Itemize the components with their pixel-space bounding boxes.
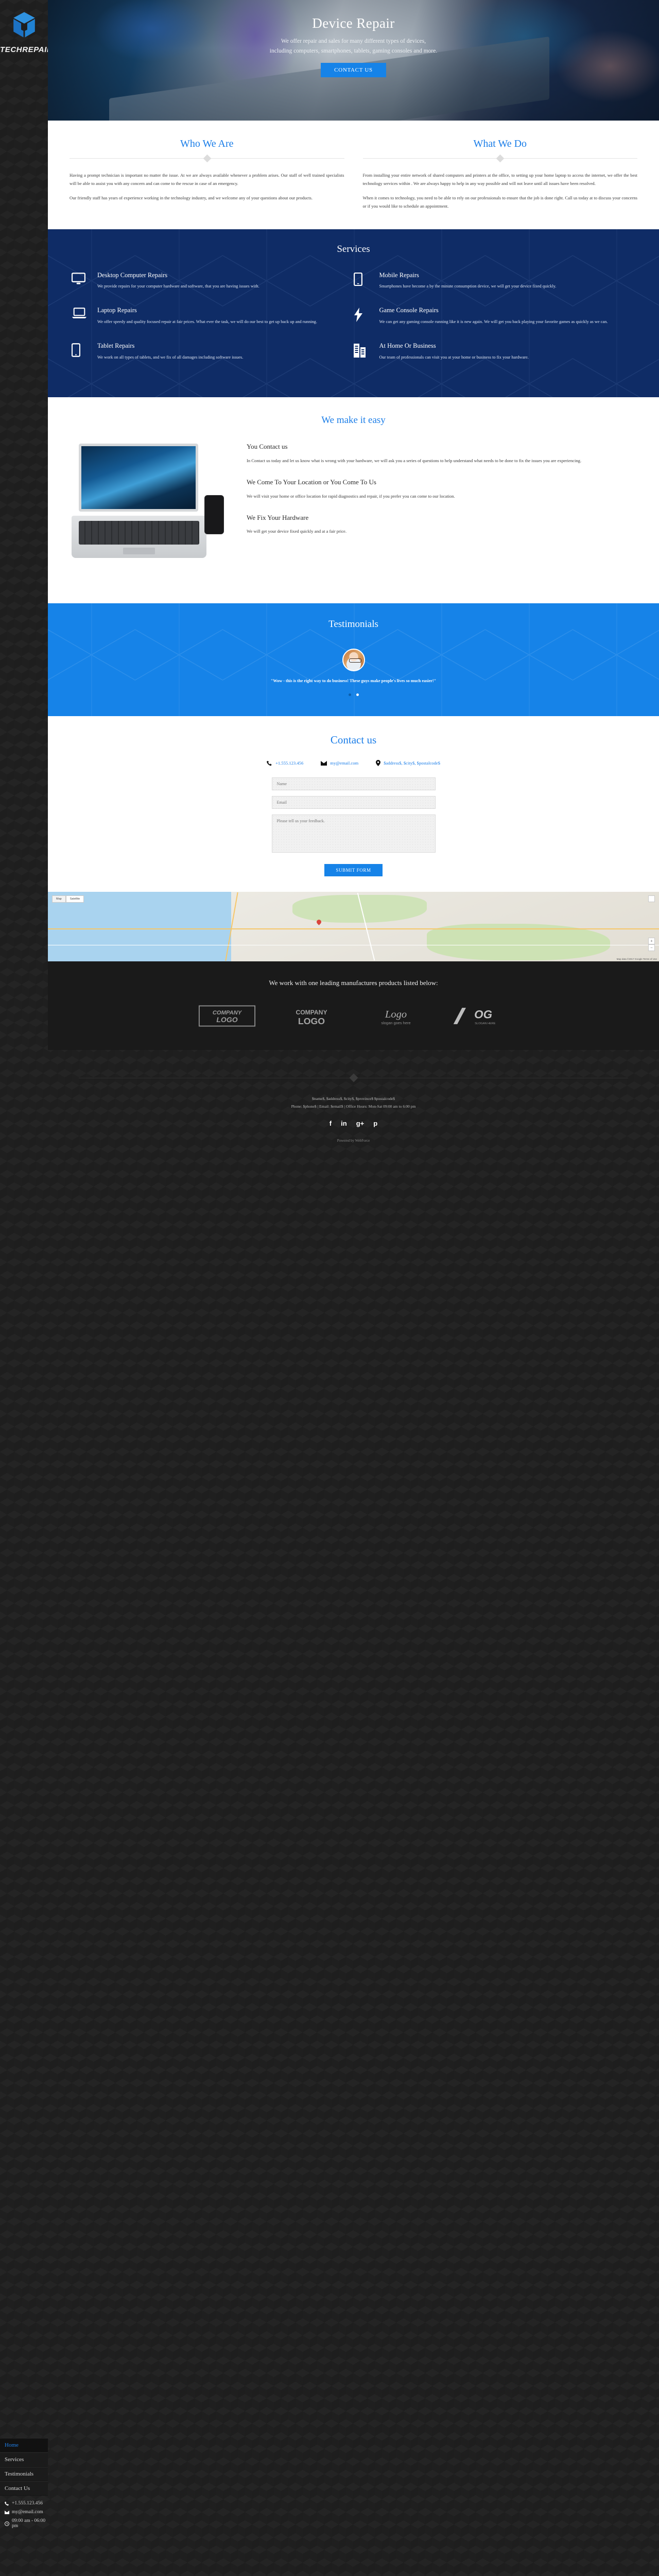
name-input[interactable] xyxy=(272,777,436,790)
service-title: Desktop Computer Repairs xyxy=(97,270,259,280)
service-desc: We work on all types of tablets, and we … xyxy=(97,353,243,362)
location-pin-icon xyxy=(376,760,380,766)
footer: $name$, $address$, $city$, $province$ $p… xyxy=(48,1050,659,1152)
who-we-are-column: Who We Are Having a prompt technician is… xyxy=(70,138,344,211)
service-item-at-home-business: At Home Or Business Our team of professi… xyxy=(354,341,636,361)
testimonial-quote: "Wow - this is the right way to do busin… xyxy=(48,679,659,683)
map-attribution: Map data ©2017 Google Terms of Use xyxy=(617,958,657,960)
who-we-are-title: Who We Are xyxy=(70,138,344,150)
avatar xyxy=(342,649,365,671)
contact-email: my@email.com xyxy=(330,760,358,766)
svg-text:SLOGAN HERE: SLOGAN HERE xyxy=(475,1022,496,1025)
partner-logo: OG SLOGAN HERE xyxy=(452,1005,509,1027)
carousel-dot[interactable] xyxy=(349,693,351,696)
sidebar-phone-row[interactable]: +1.555.123.456 xyxy=(5,2501,48,2506)
what-we-do-column: What We Do From installing your entire n… xyxy=(363,138,638,211)
zoom-in-button[interactable]: + xyxy=(648,938,655,944)
contact-title: Contact us xyxy=(48,734,659,747)
laptop-phone-illustration xyxy=(72,442,226,581)
envelope-icon xyxy=(5,2510,9,2515)
sidebar-item-testimonials[interactable]: Testimonials xyxy=(0,2467,48,2481)
easy-step-heading: We Come To Your Location or You Come To … xyxy=(247,477,635,487)
zoom-out-button[interactable]: − xyxy=(648,944,655,951)
service-item-game-console: Game Console Repairs We can get any gami… xyxy=(354,306,636,326)
map-road xyxy=(48,945,659,945)
laptop-screen-image xyxy=(79,444,198,512)
map-type-satellite[interactable]: Satellite xyxy=(66,895,84,903)
carousel-dot-active[interactable] xyxy=(356,693,359,696)
easy-step-heading: You Contact us xyxy=(247,442,635,452)
svg-text:Logo: Logo xyxy=(384,1009,406,1020)
pinterest-icon[interactable]: p xyxy=(373,1120,377,1127)
diamond-divider-icon xyxy=(70,154,344,162)
sidebar-hours-row: 09:00 am - 06:00 pm xyxy=(5,2518,48,2529)
email-input[interactable] xyxy=(272,796,436,809)
easy-step-text: We will get your device fixed quickly an… xyxy=(247,527,635,535)
svg-text:LOGO: LOGO xyxy=(298,1016,324,1026)
service-desc: We provide repairs for your computer har… xyxy=(97,282,259,291)
map-fullscreen-icon[interactable] xyxy=(648,895,655,902)
services-section: Services Desktop Computer Repairs We pro… xyxy=(48,229,659,398)
facebook-icon[interactable]: f xyxy=(329,1120,332,1127)
services-title: Services xyxy=(48,244,659,255)
service-desc: Smartphones have become a by the minute … xyxy=(379,282,557,291)
company-logo-icon: COMPANY LOGO xyxy=(198,1005,256,1027)
who-we-are-p2: Our friendly staff has years of experien… xyxy=(70,194,344,202)
map-zoom-control[interactable]: + − xyxy=(648,938,655,951)
hero-subtitle-line2: including computers, smartphones, tablet… xyxy=(48,46,659,56)
about-section: Who We Are Having a prompt technician is… xyxy=(48,121,659,229)
sidebar-item-home[interactable]: Home xyxy=(0,2438,48,2452)
company-logo-icon: COMPANY LOGO xyxy=(283,1005,340,1027)
laptop-keyboard xyxy=(79,521,199,545)
company-logo-icon: Logo slogan goes here xyxy=(367,1005,425,1027)
partner-logo: COMPANY LOGO xyxy=(198,1005,256,1027)
sidebar-item-contact-us[interactable]: Contact Us xyxy=(0,2481,48,2496)
we-make-it-easy-section: We make it easy You Contact us In Contac… xyxy=(48,397,659,603)
svg-text:OG: OG xyxy=(474,1008,492,1021)
contact-email-item[interactable]: my@email.com xyxy=(321,760,358,766)
hero-section: Device Repair We offer repair and sales … xyxy=(48,0,659,121)
laptop-trackpad xyxy=(123,548,155,554)
easy-title: We make it easy xyxy=(48,415,659,426)
service-title: Game Console Repairs xyxy=(379,306,608,315)
carousel-dots[interactable] xyxy=(48,689,659,699)
hero-contact-us-button[interactable]: CONTACT US xyxy=(321,63,386,77)
svg-text:COMPANY: COMPANY xyxy=(296,1009,327,1016)
message-textarea[interactable] xyxy=(272,815,436,853)
phone-icon xyxy=(5,2501,9,2506)
service-desc: Our team of professionals can visit you … xyxy=(379,353,529,362)
phone-icon xyxy=(267,760,272,766)
submit-form-button[interactable]: SUBMIT FORM xyxy=(324,864,382,876)
page-root: TECHREPAIR Home Services Testimonials Co… xyxy=(0,0,659,2576)
linkedin-icon[interactable]: in xyxy=(341,1120,347,1127)
sidebar-phone: +1.555.123.456 xyxy=(12,2501,43,2506)
what-we-do-p2: When it comes to technology, you need to… xyxy=(363,194,638,211)
lightning-bolt-icon xyxy=(354,306,371,326)
easy-step-heading: We Fix Your Hardware xyxy=(247,513,635,523)
social-links: f in g+ p xyxy=(48,1120,659,1127)
service-item-tablet: Tablet Repairs We work on all types of t… xyxy=(72,341,354,361)
service-title: Laptop Repairs xyxy=(97,306,317,315)
hero-title: Device Repair xyxy=(48,15,659,31)
contact-phone-item[interactable]: +1.555.123.456 xyxy=(267,760,303,766)
tablet-icon xyxy=(72,341,89,361)
sidebar-item-services[interactable]: Services xyxy=(0,2452,48,2467)
diamond-divider-icon xyxy=(79,1073,628,1083)
partner-logo: Logo slogan goes here xyxy=(367,1005,425,1027)
map-highway xyxy=(48,928,659,929)
smartphone-image xyxy=(204,495,224,534)
map-type-map[interactable]: Map xyxy=(52,895,66,903)
service-item-desktop: Desktop Computer Repairs We provide repa… xyxy=(72,270,354,291)
brand-logo[interactable]: TECHREPAIR xyxy=(0,0,48,54)
diamond-divider-icon xyxy=(363,154,638,162)
what-we-do-p1: From installing your entire network of s… xyxy=(363,172,638,188)
svg-text:LOGO: LOGO xyxy=(216,1015,237,1024)
building-icon xyxy=(354,341,371,361)
service-title: Tablet Repairs xyxy=(97,341,243,351)
contact-phone: +1.555.123.456 xyxy=(275,760,303,766)
contact-address-item: $address$, $city$, $postalcode$ xyxy=(376,760,440,766)
company-logo-icon: OG SLOGAN HERE xyxy=(452,1005,509,1027)
sidebar: TECHREPAIR Home Services Testimonials Co… xyxy=(0,0,48,2576)
footer-contact-line: Phone: $phone$ | Email: $email$ | Office… xyxy=(48,1103,659,1110)
contact-form: SUBMIT FORM xyxy=(272,777,436,876)
sidebar-email-row[interactable]: my@email.com xyxy=(5,2510,48,2515)
service-desc: We can get any gaming console running li… xyxy=(379,318,608,326)
service-item-laptop: Laptop Repairs We offer speedy and quali… xyxy=(72,306,354,326)
laptop-icon xyxy=(72,306,89,326)
testimonials-title: Testimonials xyxy=(48,619,659,630)
service-item-mobile: Mobile Repairs Smartphones have become a… xyxy=(354,270,636,291)
svg-text:slogan goes here: slogan goes here xyxy=(381,1021,410,1025)
footer-address-line: $name$, $address$, $city$, $province$ $p… xyxy=(48,1095,659,1103)
mobile-phone-icon xyxy=(354,270,371,291)
easy-step-text: In Contact us today and let us know what… xyxy=(247,456,635,465)
map-park-area xyxy=(427,924,610,960)
contact-address: $address$, $city$, $postalcode$ xyxy=(384,760,440,766)
service-title: Mobile Repairs xyxy=(379,270,557,280)
main-content: Device Repair We offer repair and sales … xyxy=(48,0,659,1152)
what-we-do-title: What We Do xyxy=(363,138,638,150)
easy-steps: You Contact us In Contact us today and l… xyxy=(247,442,635,548)
sidebar-email: my@email.com xyxy=(12,2510,43,2515)
contact-section: Contact us +1.555.123.456 my@email.com xyxy=(48,716,659,892)
sidebar-nav: Home Services Testimonials Contact Us +1… xyxy=(0,2438,48,2532)
sidebar-hours: 09:00 am - 06:00 pm xyxy=(12,2518,48,2529)
powered-by-text: Powered by WebForce xyxy=(48,1139,659,1143)
envelope-icon xyxy=(321,761,327,766)
partner-logo: COMPANY LOGO xyxy=(283,1005,340,1027)
brand-name: TECHREPAIR xyxy=(0,45,48,54)
partners-section: We work with one leading manufactures pr… xyxy=(48,961,659,1050)
sidebar-contact-info: +1.555.123.456 my@email.com 09:00 am - 0… xyxy=(0,2496,48,2529)
map-section[interactable]: Map Satellite + − Map data ©2017 Google … xyxy=(48,892,659,961)
cube-icon xyxy=(12,11,37,38)
hero-subtitle-line1: We offer repair and sales for many diffe… xyxy=(48,37,659,46)
testimonials-section: Testimonials "Wow - this is the right wa… xyxy=(48,603,659,716)
desktop-monitor-icon xyxy=(72,270,89,291)
partners-title: We work with one leading manufactures pr… xyxy=(48,979,659,987)
easy-step-text: We will visit your home or office locati… xyxy=(247,492,635,500)
service-desc: We offer speedy and quality focused repa… xyxy=(97,318,317,326)
clock-icon xyxy=(5,2521,9,2526)
map-type-control[interactable]: Map Satellite xyxy=(52,895,84,903)
google-plus-icon[interactable]: g+ xyxy=(356,1120,365,1127)
who-we-are-p1: Having a prompt technician is important … xyxy=(70,172,344,188)
service-title: At Home Or Business xyxy=(379,341,529,351)
